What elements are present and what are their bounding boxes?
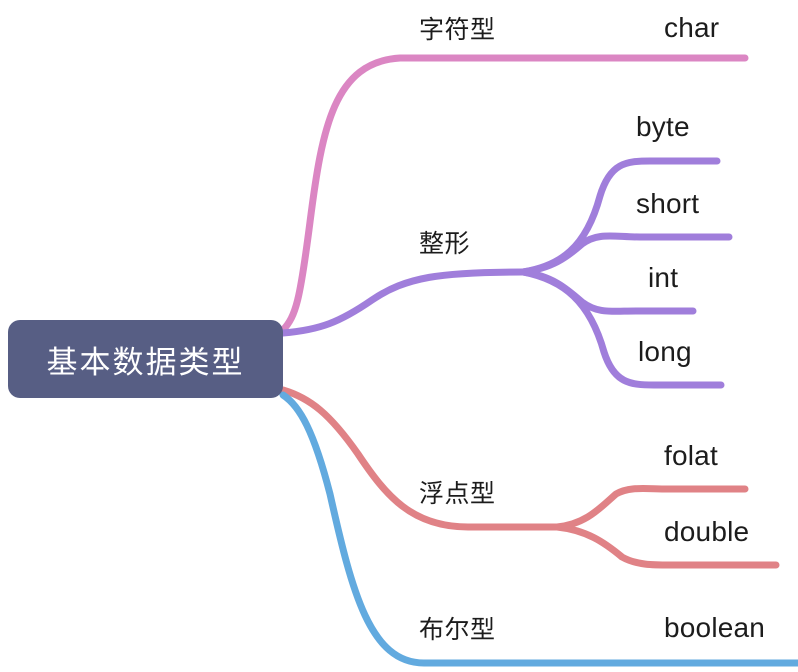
root-node[interactable]: 基本数据类型 — [8, 320, 283, 398]
root-node-label: 基本数据类型 — [47, 337, 245, 382]
leaf-label-int-leaf[interactable]: int — [648, 264, 678, 292]
branch-label-float[interactable]: 浮点型 — [419, 482, 496, 507]
leaf-label-double[interactable]: double — [664, 518, 749, 546]
leaf-label-char[interactable]: char — [664, 14, 719, 42]
branch-label-int[interactable]: 整形 — [419, 232, 470, 257]
leaf-label-short[interactable]: short — [636, 190, 699, 218]
branch-line-int — [283, 272, 523, 333]
mindmap-canvas: 基本数据类型 字符型char整形byteshortintlong浮点型folat… — [0, 0, 798, 672]
leaf-label-folat[interactable]: folat — [664, 442, 718, 470]
branch-line-long — [523, 272, 721, 385]
branch-line-short — [523, 236, 729, 272]
leaf-label-byte[interactable]: byte — [636, 113, 690, 141]
leaf-label-long[interactable]: long — [638, 338, 692, 366]
leaf-label-boolean[interactable]: boolean — [664, 614, 765, 642]
branch-label-boolean[interactable]: 布尔型 — [419, 618, 496, 643]
branch-label-char[interactable]: 字符型 — [419, 18, 496, 43]
